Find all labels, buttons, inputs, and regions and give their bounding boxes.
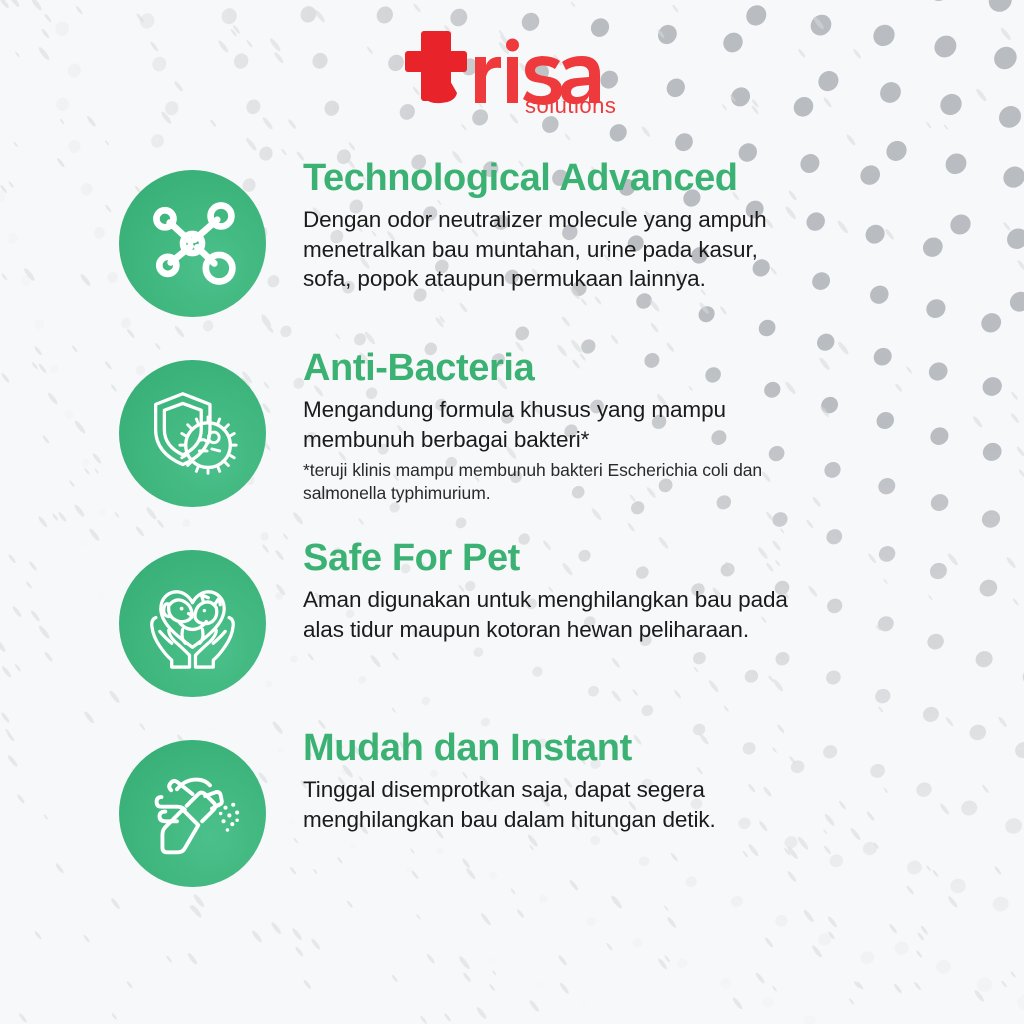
feature-row-safe-for-pet: Safe For Pet Aman digunakan untuk menghi… — [0, 530, 1024, 720]
brand-logo: solutions — [0, 26, 1024, 116]
feature-desc-line: Tinggal disemprotkan saja, dapat segera — [303, 775, 963, 804]
feature-title: Technological Advanced — [303, 158, 963, 198]
trisa-solutions-logo: solutions — [405, 27, 619, 115]
logo-tagline: solutions — [525, 93, 616, 115]
feature-note-line: salmonella typhimurium. — [303, 482, 963, 505]
feature-description: Aman digunakan untuk menghilangkan bau p… — [303, 585, 963, 644]
feature-desc-line: Aman digunakan untuk menghilangkan bau p… — [303, 585, 963, 614]
feature-description: Dengan odor neutralizer molecule yang am… — [303, 205, 963, 293]
feature-desc-line: alas tidur maupun kotoran hewan pelihara… — [303, 615, 963, 644]
feature-description: Tinggal disemprotkan saja, dapat segera … — [303, 775, 963, 834]
logo-t-mark — [405, 31, 467, 103]
feature-desc-line: Dengan odor neutralizer molecule yang am… — [303, 205, 963, 234]
feature-footnote: *teruji klinis mampu membunuh bakteri Es… — [303, 459, 963, 505]
hands-heart-pets-icon — [119, 550, 266, 697]
infographic-canvas: solutions Technological Adva — [0, 0, 1024, 1024]
feature-desc-line: menetralkan bau muntahan, urine pada kas… — [303, 235, 963, 264]
hand-spray-bottle-icon — [119, 740, 266, 887]
feature-title: Safe For Pet — [303, 538, 963, 578]
feature-description: Mengandung formula khusus yang mampu mem… — [303, 395, 963, 454]
feature-row-technological-advanced: Technological Advanced Dengan odor neutr… — [0, 150, 1024, 340]
feature-row-mudah-dan-instant: Mudah dan Instant Tinggal disemprotkan s… — [0, 720, 1024, 910]
shield-bacteria-icon — [119, 360, 266, 507]
molecule-icon — [119, 170, 266, 317]
feature-copy: Mudah dan Instant Tinggal disemprotkan s… — [303, 728, 963, 834]
feature-copy: Anti-Bacteria Mengandung formula khusus … — [303, 348, 963, 504]
feature-copy: Technological Advanced Dengan odor neutr… — [303, 158, 963, 293]
feature-copy: Safe For Pet Aman digunakan untuk menghi… — [303, 538, 963, 644]
feature-note-line: *teruji klinis mampu membunuh bakteri Es… — [303, 459, 963, 482]
feature-desc-line: Mengandung formula khusus yang mampu — [303, 395, 963, 424]
feature-desc-line: sofa, popok ataupun permukaan lainnya. — [303, 264, 963, 293]
feature-desc-line: menghilangkan bau dalam hitungan detik. — [303, 805, 963, 834]
feature-desc-line: membunuh berbagai bakteri* — [303, 425, 963, 454]
feature-title: Anti-Bacteria — [303, 348, 963, 388]
feature-row-anti-bacteria: Anti-Bacteria Mengandung formula khusus … — [0, 340, 1024, 530]
feature-title: Mudah dan Instant — [303, 728, 963, 768]
